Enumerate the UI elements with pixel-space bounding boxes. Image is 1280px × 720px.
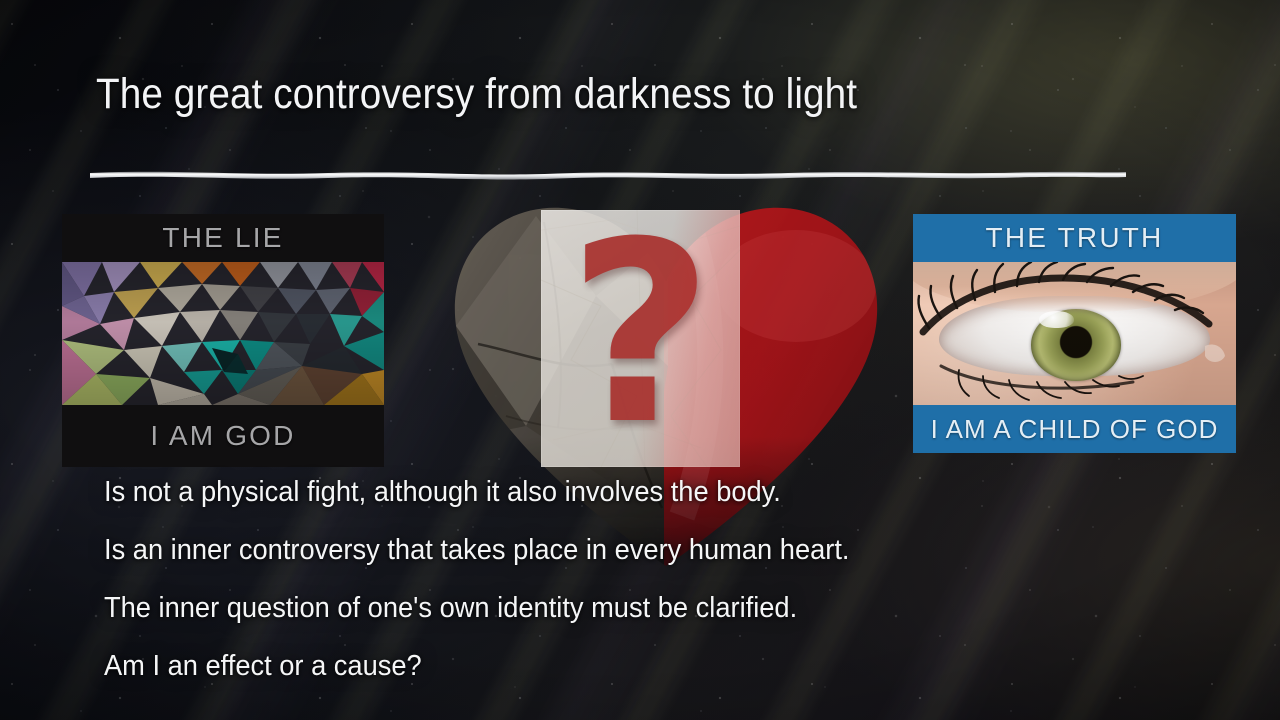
- body-line: Is not a physical fight, although it als…: [104, 478, 1044, 507]
- page-title: The great controversy from darkness to l…: [96, 70, 857, 119]
- question-mark-glyph: ?: [541, 210, 740, 467]
- panel-lie-footer: I AM GOD: [62, 405, 384, 467]
- slide: The great controversy from darkness to l…: [0, 0, 1280, 720]
- question-overlay-panel: ?: [541, 210, 740, 467]
- body-line: Am I an effect or a cause?: [104, 652, 1044, 681]
- panel-the-lie[interactable]: THE LIE: [62, 214, 384, 467]
- lowpoly-eye-icon: [62, 262, 384, 405]
- panel-truth-footer: I AM A CHILD OF GOD: [913, 405, 1236, 453]
- panel-lie-image: [62, 262, 384, 405]
- panel-the-truth[interactable]: THE TRUTH: [913, 214, 1236, 453]
- panel-truth-image: [913, 262, 1236, 405]
- panel-lie-header: THE LIE: [62, 214, 384, 262]
- real-eye-icon: [913, 262, 1236, 405]
- body-line: Is an inner controversy that takes place…: [104, 536, 1044, 565]
- body-line: The inner question of one's own identity…: [104, 594, 1044, 623]
- body-text-block: Is not a physical fight, although it als…: [104, 478, 1104, 681]
- panel-truth-header: THE TRUTH: [913, 214, 1236, 262]
